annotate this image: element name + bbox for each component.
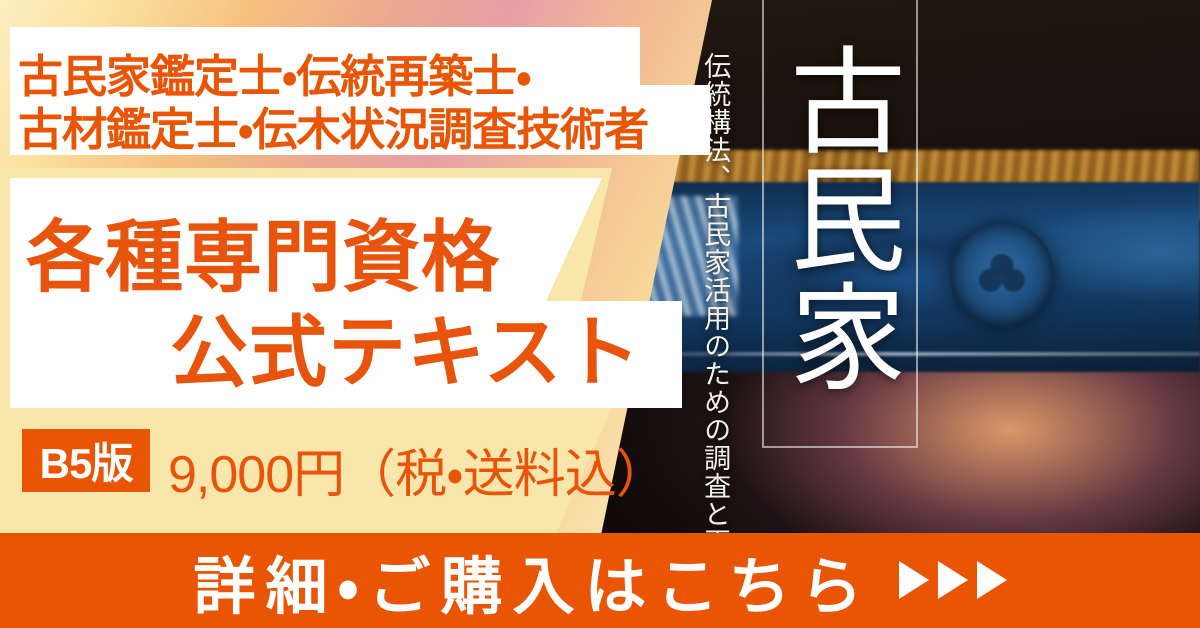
book-cover-title: 古民家	[772, 8, 904, 428]
triangle-right-icon	[938, 561, 968, 599]
cta-label: 詳細・ご購入はこちら	[193, 536, 872, 626]
triangle-right-icon	[899, 561, 929, 599]
photo-crest-medallion	[950, 222, 1054, 326]
headline-line-2: 公式テキスト	[170, 290, 642, 402]
triangle-right-icon	[977, 561, 1007, 599]
promo-banner: 古民家 伝統構法、古民家活用のための調査と再生の 古民家鑑定士・伝統再築士・ 古…	[0, 0, 1200, 628]
cta-bar[interactable]: 詳細・ご購入はこちら	[0, 533, 1200, 628]
format-badge: B5版	[22, 429, 150, 492]
price-text: 9,000円（税・送料込）	[168, 432, 667, 507]
qualifications-line-2: 古材鑑定士・伝木状況調査技術者	[18, 93, 648, 158]
cta-arrow-group	[899, 561, 1007, 599]
